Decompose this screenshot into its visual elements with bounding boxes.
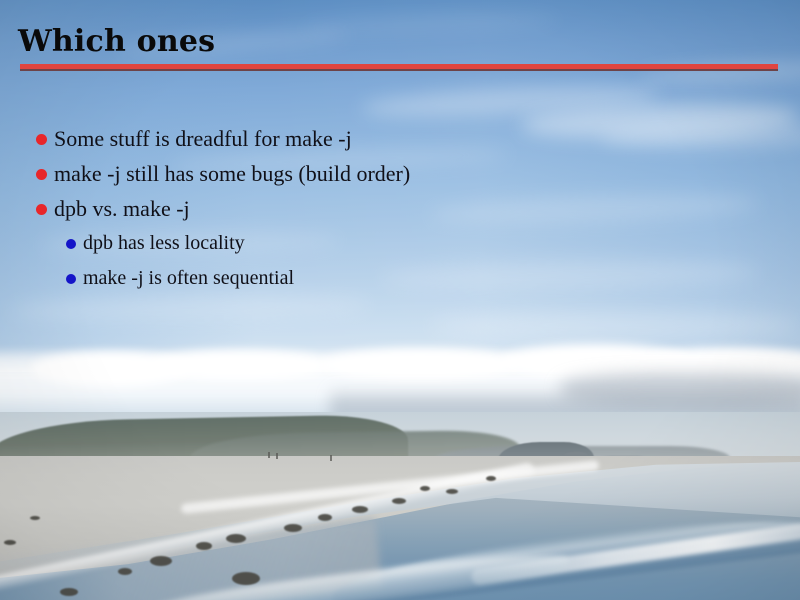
bullet-dot-icon	[36, 169, 47, 180]
bullet-text: make -j still has some bugs (build order…	[54, 161, 410, 187]
seaweed-clump	[60, 588, 78, 596]
sub-bullet-item: make -j is often sequential	[0, 266, 800, 301]
seaweed-clump	[118, 568, 132, 575]
seaweed-clump	[446, 489, 458, 494]
bullet-dot-icon	[66, 274, 76, 284]
distant-person	[330, 455, 332, 461]
bullet-text: dpb has less locality	[83, 231, 245, 255]
bullet-text: dpb vs. make -j	[54, 196, 190, 222]
bullet-text: make -j is often sequential	[83, 266, 294, 290]
seaweed-clump	[226, 534, 246, 543]
seaweed-clump	[392, 498, 406, 504]
seaweed-clump	[284, 524, 302, 532]
seaweed-clump	[196, 542, 212, 550]
seaweed-clump	[318, 514, 332, 521]
presentation-slide: Which ones Some stuff is dreadful for ma…	[0, 0, 800, 600]
seaweed-clump	[150, 556, 172, 566]
cloud-wisp	[430, 312, 800, 338]
distant-person	[276, 453, 278, 459]
bullet-item: Some stuff is dreadful for make -j	[0, 126, 800, 161]
seaweed-clump	[232, 572, 260, 585]
seaweed-clump	[30, 516, 40, 520]
bullet-list: Some stuff is dreadful for make -j make …	[0, 126, 800, 301]
seaweed-clump	[486, 476, 496, 481]
cloud-puff	[320, 348, 520, 380]
seaweed-clump	[420, 486, 430, 491]
bullet-item: make -j still has some bugs (build order…	[0, 161, 800, 196]
bullet-dot-icon	[66, 239, 76, 249]
distant-person	[268, 452, 270, 458]
bullet-dot-icon	[36, 204, 47, 215]
cloud-shadow	[560, 372, 800, 406]
seaweed-clump	[4, 540, 16, 545]
bullet-item: dpb vs. make -j	[0, 196, 800, 231]
slide-title: Which ones	[18, 24, 215, 59]
seaweed-clump	[352, 506, 368, 513]
bullet-dot-icon	[36, 134, 47, 145]
cloud-puff	[150, 350, 330, 380]
title-underline-rule	[20, 64, 778, 71]
bullet-text: Some stuff is dreadful for make -j	[54, 126, 352, 152]
sub-bullet-item: dpb has less locality	[0, 231, 800, 266]
